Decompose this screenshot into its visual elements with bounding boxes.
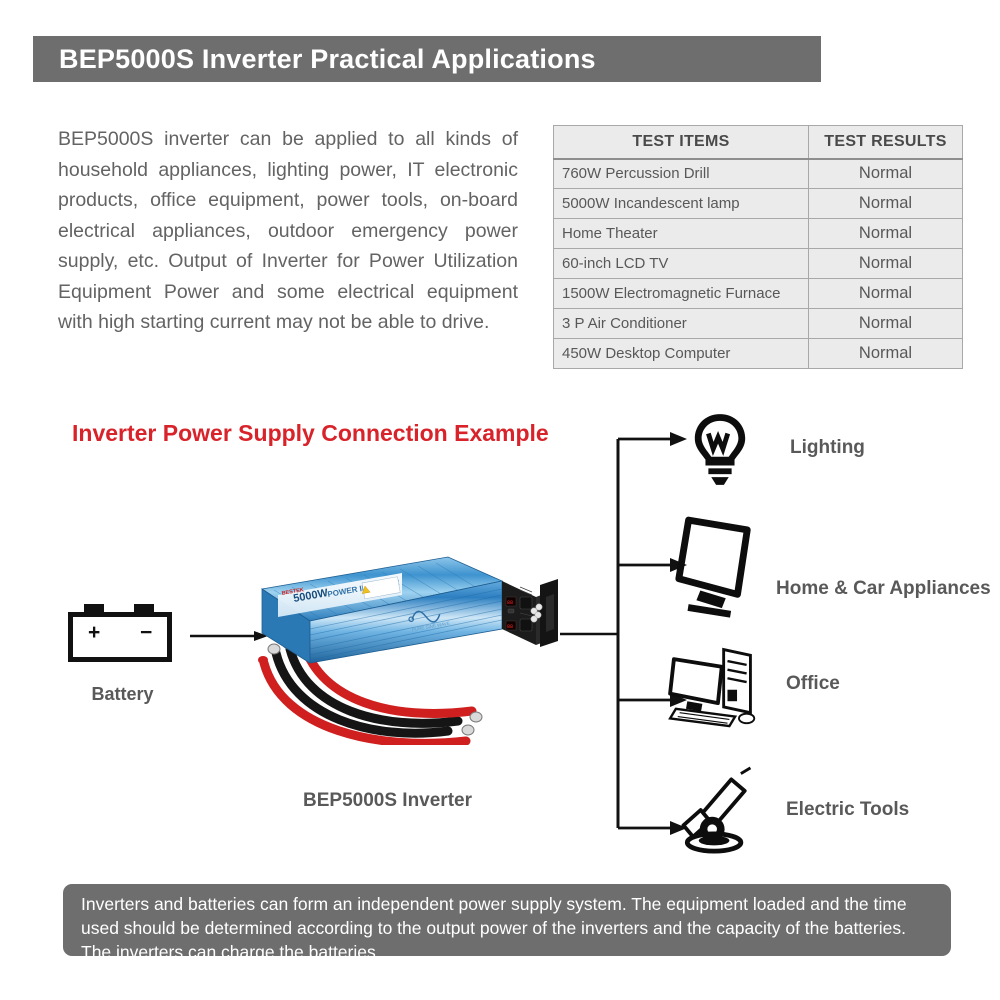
inverter-label: BEP5000S Inverter bbox=[255, 790, 520, 812]
table-row: 760W Percussion Drill Normal bbox=[554, 159, 963, 189]
cell-test-result: Normal bbox=[809, 189, 963, 219]
infographic-page: BEP5000S Inverter Practical Applications… bbox=[0, 0, 1000, 1000]
application-electric-tools: Electric Tools bbox=[668, 764, 909, 856]
cell-test-result: Normal bbox=[809, 279, 963, 309]
cell-test-item: 760W Percussion Drill bbox=[554, 159, 809, 189]
footer-note-box: Inverters and batteries can form an inde… bbox=[63, 884, 951, 956]
cell-test-item: 5000W Incandescent lamp bbox=[554, 189, 809, 219]
page-title: BEP5000S Inverter Practical Applications bbox=[33, 44, 596, 75]
table-row: 60-inch LCD TV Normal bbox=[554, 249, 963, 279]
battery-minus-sign: − bbox=[140, 622, 152, 643]
cell-test-result: Normal bbox=[809, 219, 963, 249]
column-header-test-results: TEST RESULTS bbox=[809, 126, 963, 159]
cell-test-item: Home Theater bbox=[554, 219, 809, 249]
angle-grinder-icon bbox=[668, 764, 764, 856]
battery-icon: + − bbox=[68, 604, 172, 662]
header-bar: BEP5000S Inverter Practical Applications bbox=[33, 36, 821, 82]
svg-text:88: 88 bbox=[507, 600, 513, 606]
battery-body bbox=[68, 612, 172, 662]
application-label-lighting: Lighting bbox=[790, 437, 865, 459]
battery-plus-sign: + bbox=[88, 622, 100, 643]
battery-label: Battery bbox=[55, 684, 190, 705]
diagram-title: Inverter Power Supply Connection Example bbox=[72, 420, 549, 447]
cell-test-result: Normal bbox=[809, 249, 963, 279]
desktop-computer-icon bbox=[668, 638, 764, 730]
inverter-control-panel: 88 88 bbox=[502, 579, 558, 647]
application-label-home-car: Home & Car Appliances bbox=[776, 578, 991, 600]
cell-test-result: Normal bbox=[809, 309, 963, 339]
intro-paragraph: BEP5000S inverter can be applied to all … bbox=[58, 124, 518, 338]
table-row: 450W Desktop Computer Normal bbox=[554, 339, 963, 369]
table-header-row: TEST ITEMS TEST RESULTS bbox=[554, 126, 963, 159]
cell-test-item: 1500W Electromagnetic Furnace bbox=[554, 279, 809, 309]
cell-test-item: 450W Desktop Computer bbox=[554, 339, 809, 369]
tv-monitor-icon bbox=[670, 512, 760, 622]
application-office: Office bbox=[668, 638, 840, 730]
table-row: 5000W Incandescent lamp Normal bbox=[554, 189, 963, 219]
footer-note-text: Inverters and batteries can form an inde… bbox=[81, 892, 935, 964]
lightbulb-icon bbox=[676, 404, 764, 492]
cell-test-result: Normal bbox=[809, 339, 963, 369]
application-label-office: Office bbox=[786, 673, 840, 695]
dc-cables bbox=[258, 638, 482, 743]
table-row: 3 P Air Conditioner Normal bbox=[554, 309, 963, 339]
filament-w-shape bbox=[708, 433, 727, 449]
test-results-table: TEST ITEMS TEST RESULTS 760W Percussion … bbox=[553, 125, 963, 369]
cell-test-item: 3 P Air Conditioner bbox=[554, 309, 809, 339]
cell-test-item: 60-inch LCD TV bbox=[554, 249, 809, 279]
inverter-product-image: BESTEK 5000W POWER INVERTER PURE SINE WA… bbox=[252, 545, 572, 745]
column-header-test-items: TEST ITEMS bbox=[554, 126, 809, 159]
svg-text:88: 88 bbox=[507, 624, 513, 630]
application-label-electric-tools: Electric Tools bbox=[786, 799, 909, 821]
table-row: Home Theater Normal bbox=[554, 219, 963, 249]
cell-test-result: Normal bbox=[809, 159, 963, 189]
table-row: 1500W Electromagnetic Furnace Normal bbox=[554, 279, 963, 309]
application-home-car: Home & Car Appliances bbox=[670, 512, 991, 622]
application-lighting: Lighting bbox=[676, 404, 865, 492]
